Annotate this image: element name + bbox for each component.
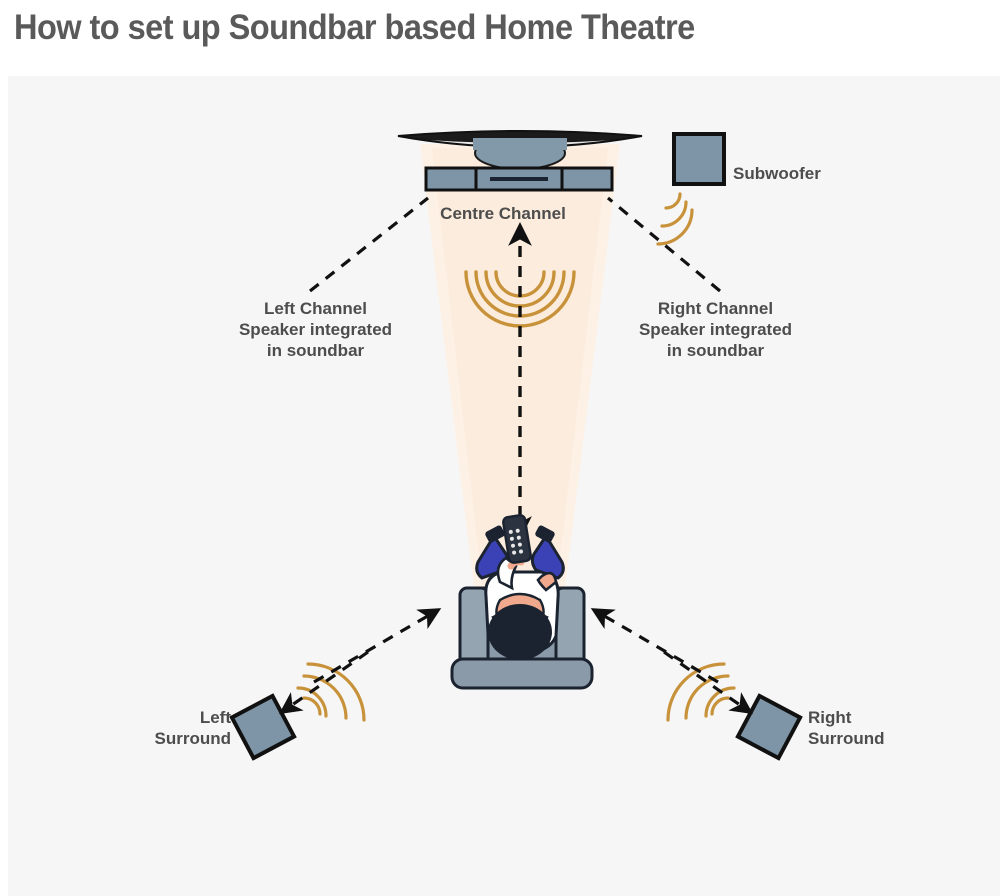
label-centre-channel: Centre Channel <box>403 203 603 224</box>
right-surround-speaker <box>668 664 800 758</box>
label-left-channel: Left Channel Speaker integrated in sound… <box>198 298 433 361</box>
right-surround-sound-waves <box>668 664 734 720</box>
left-surround-arrow-to-sofa <box>314 610 438 682</box>
label-right-channel: Right Channel Speaker integrated in soun… <box>598 298 833 361</box>
label-subwoofer: Subwoofer <box>733 163 913 184</box>
page-title: How to set up Soundbar based Home Theatr… <box>14 2 907 58</box>
subwoofer-speaker <box>658 134 724 244</box>
left-surround-sound-waves <box>298 664 364 720</box>
diagram-panel: Centre Channel Subwoofer Left Channel Sp… <box>8 76 1000 896</box>
left-surround-speaker <box>232 664 364 758</box>
label-right-surround: Right Surround <box>808 707 988 749</box>
subwoofer-sound-waves <box>658 194 692 244</box>
label-left-surround: Left Surround <box>26 707 231 749</box>
home-theatre-diagram <box>8 76 1000 896</box>
soundbar <box>426 168 612 190</box>
right-surround-arrow-to-sofa <box>594 610 718 682</box>
